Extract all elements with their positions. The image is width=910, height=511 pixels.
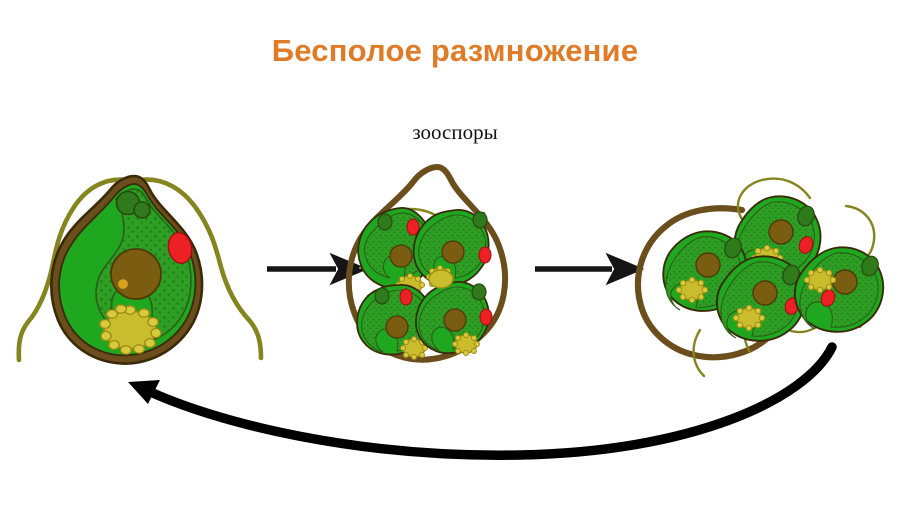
daughter-cell-4: [416, 282, 492, 356]
nucleolus: [118, 279, 129, 290]
arrow-cycle-return: [128, 347, 832, 455]
diagram-svg: [0, 0, 910, 511]
stage-released-zoospores: [638, 179, 883, 376]
contractile-vacuole-2: [134, 202, 150, 218]
central-starch-cluster: [429, 270, 453, 288]
stage-zoospore-cluster: [349, 167, 505, 360]
nucleus: [111, 249, 161, 299]
slide-canvas: Бесполое размножение зооспоры: [0, 0, 910, 511]
life-cycle-diagram: [0, 0, 910, 511]
stage-parent-cell: [19, 176, 261, 364]
